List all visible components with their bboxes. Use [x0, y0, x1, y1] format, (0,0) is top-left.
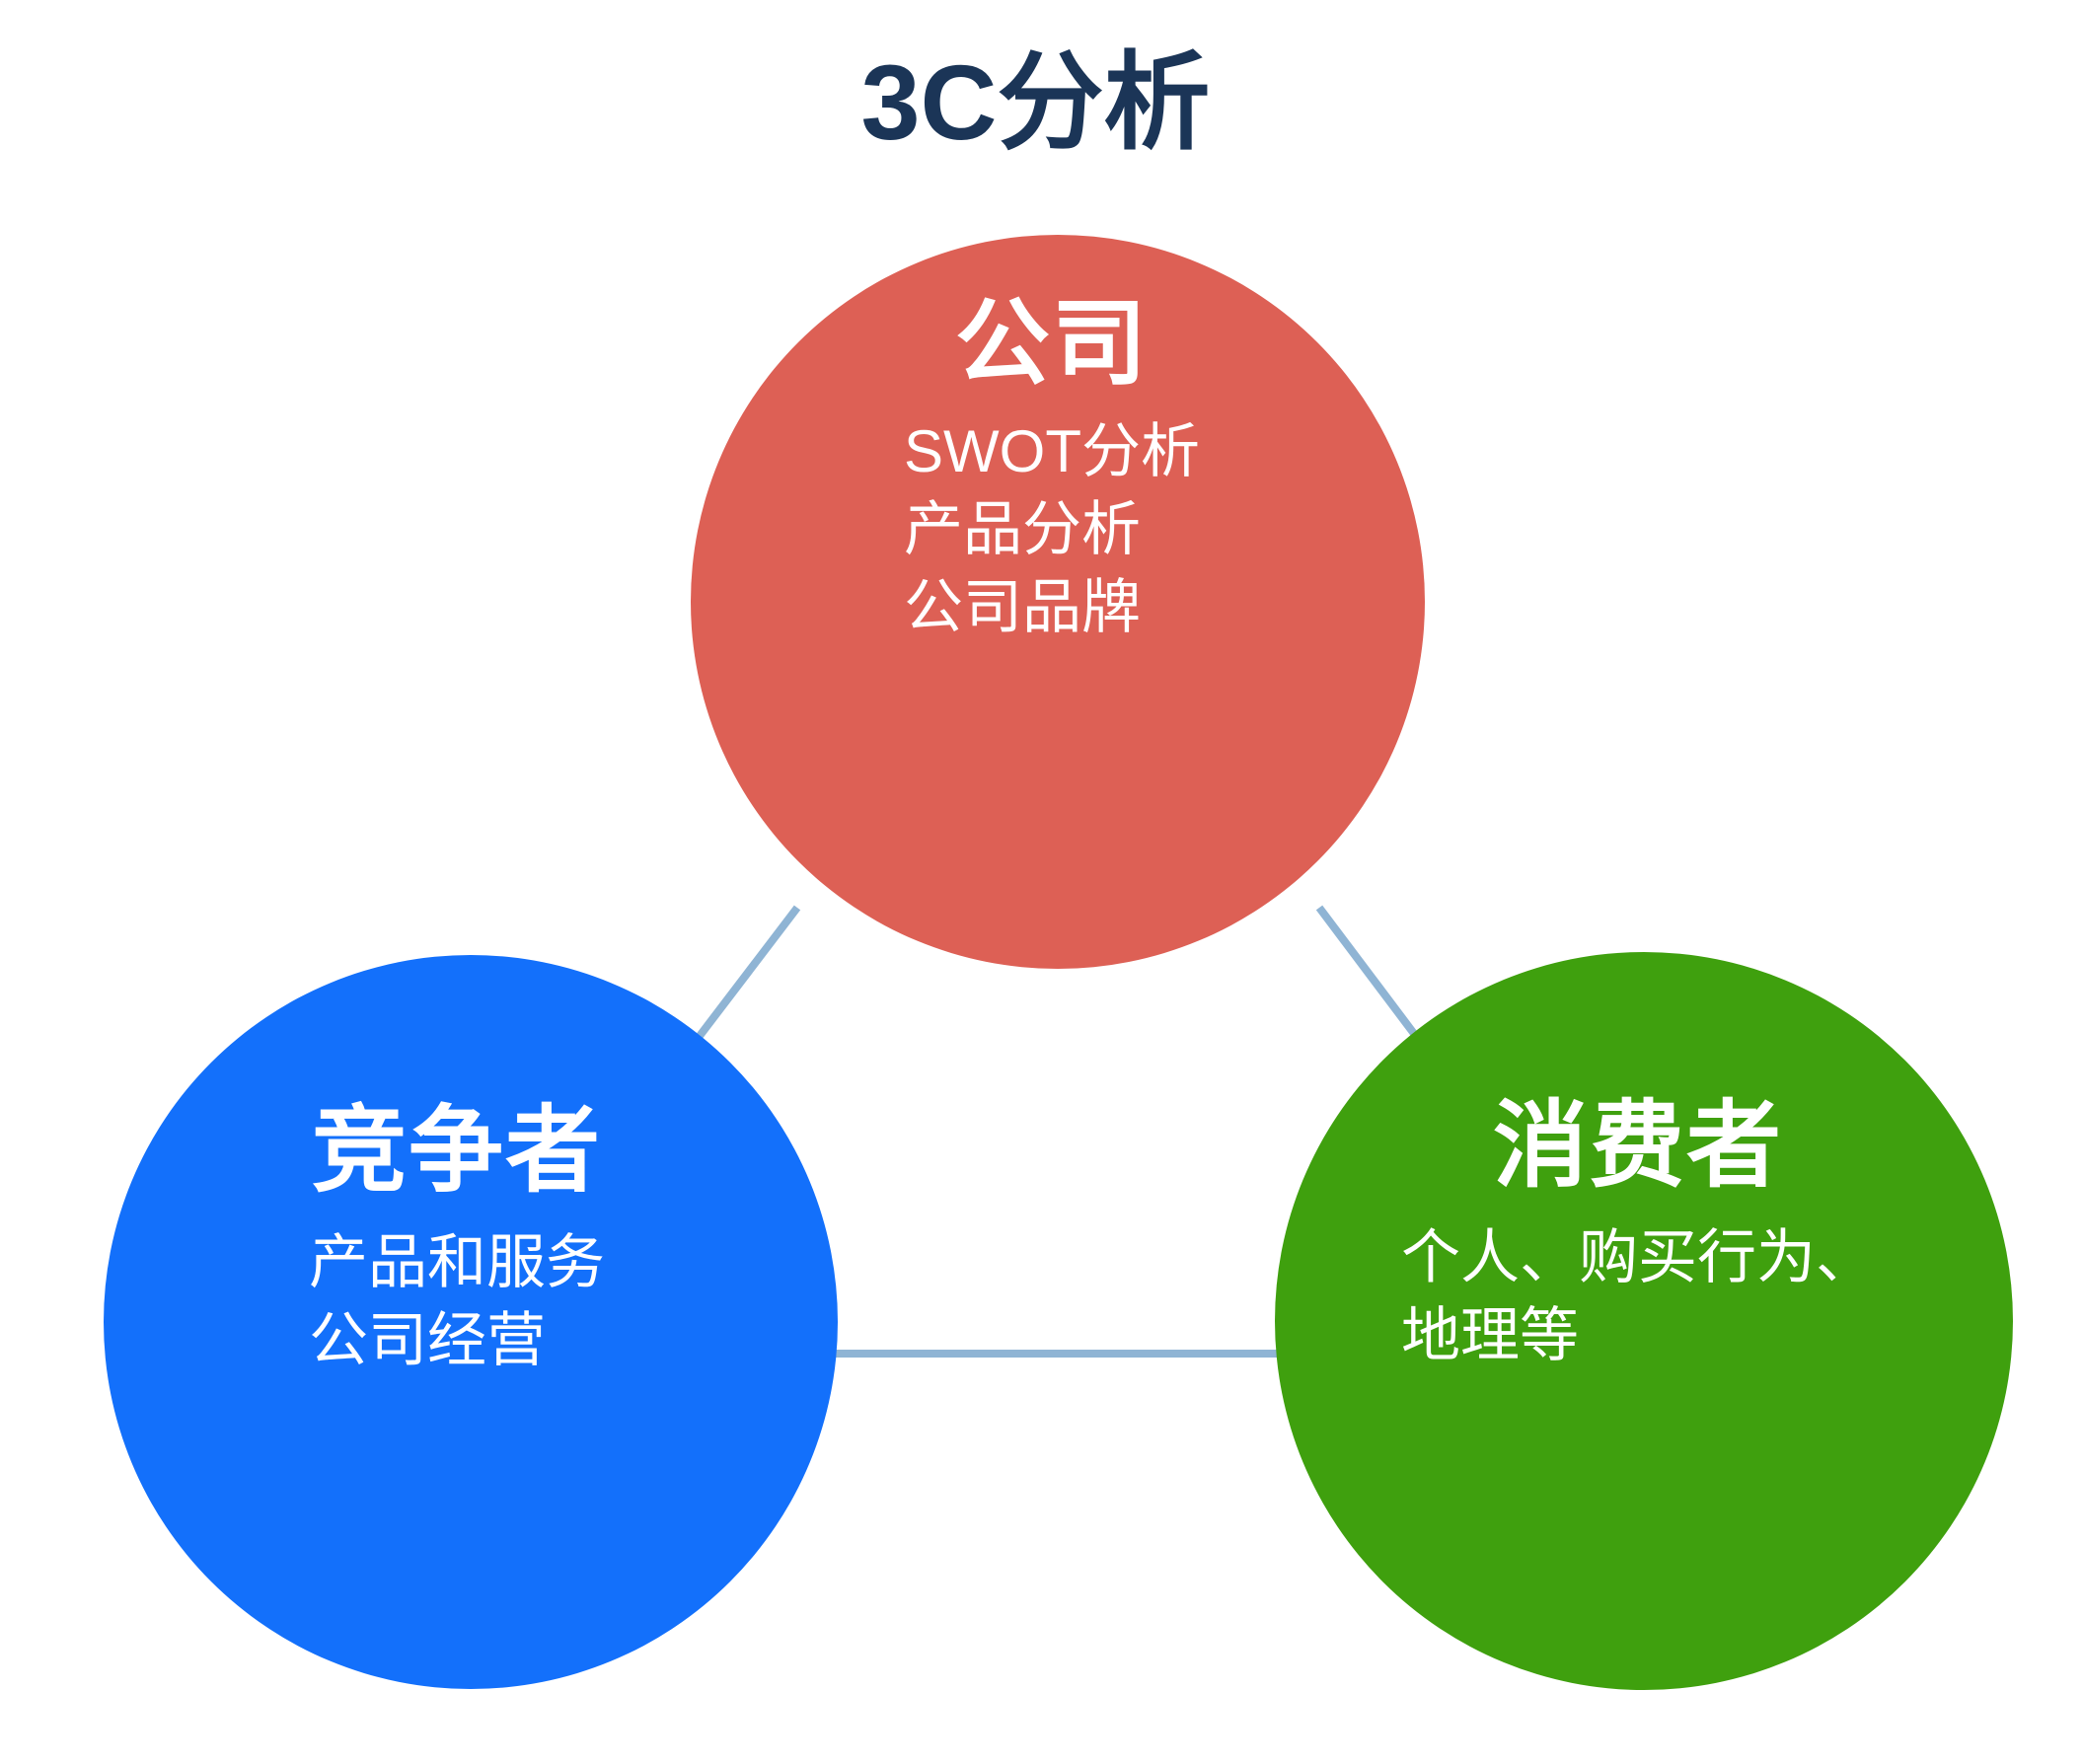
node-consumer[interactable]: 消费者 个人、购买行为、 地理等 — [1275, 952, 2013, 1690]
node-consumer-item-1: 地理等 — [1401, 1296, 1875, 1374]
node-competitor[interactable]: 竞争者 产品和服务 公司经营 — [104, 955, 838, 1689]
node-company-item-0: SWOT分析 — [904, 412, 1200, 490]
diagram-canvas: 3C分析 公司 SWOT分析 产品分析 公司品牌 竞争者 产品和服务 公司经营 … — [0, 0, 2083, 1764]
node-competitor-item-0: 产品和服务 — [309, 1223, 605, 1301]
node-consumer-items: 个人、购买行为、 地理等 — [1401, 1218, 1875, 1374]
node-company-items: SWOT分析 产品分析 公司品牌 — [904, 412, 1200, 647]
node-consumer-item-0: 个人、购买行为、 — [1401, 1218, 1875, 1296]
node-consumer-heading: 消费者 — [1493, 1096, 1783, 1197]
node-competitor-items: 产品和服务 公司经营 — [309, 1223, 605, 1379]
node-competitor-item-1: 公司经营 — [309, 1301, 605, 1379]
node-company[interactable]: 公司 SWOT分析 产品分析 公司品牌 — [691, 235, 1425, 969]
node-company-item-1: 产品分析 — [904, 490, 1200, 568]
node-competitor-heading: 竞争者 — [312, 1101, 602, 1202]
node-company-heading: 公司 — [955, 294, 1149, 395]
node-company-item-2: 公司品牌 — [904, 568, 1200, 646]
